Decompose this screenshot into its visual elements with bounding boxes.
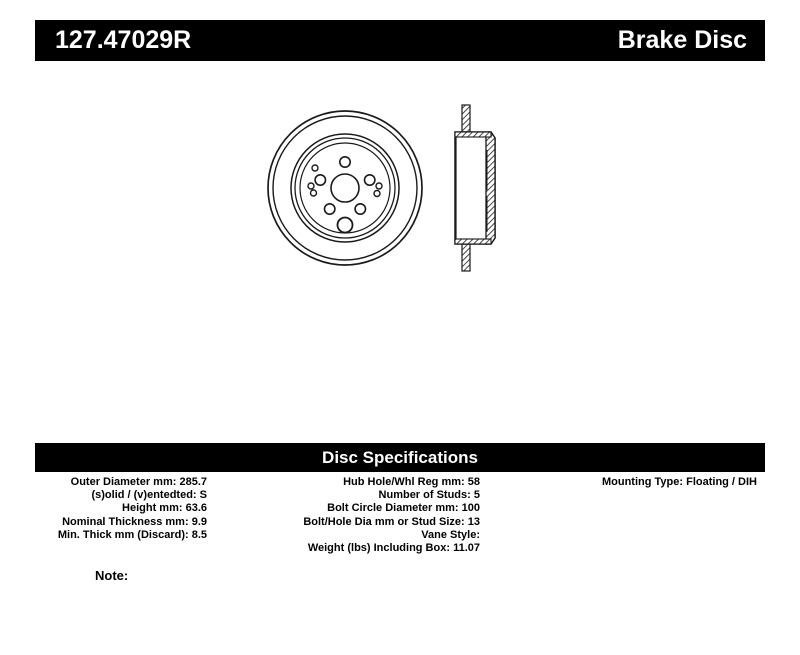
header-bar: 127.47029R Brake Disc [35,20,765,61]
spec-label: Bolt Circle Diameter mm: [327,502,458,514]
spec-value: 8.5 [192,529,207,541]
spec-row: Bolt Circle Diameter mm: 100 [240,502,480,515]
pilot-holes [308,165,382,197]
spec-label: Min. Thick mm (Discard): [58,529,189,541]
spec-value: 285.7 [179,476,207,488]
spec-value: 13 [468,516,480,528]
spec-label: Bolt/Hole Dia mm or Stud Size: [303,516,464,528]
product-title: Brake Disc [618,28,747,53]
spec-value: 63.6 [186,502,207,514]
spec-value: 100 [462,502,480,514]
spec-column-middle: Hub Hole/Whl Reg mm: 58 Number of Studs:… [240,476,480,555]
part-number: 127.47029R [55,28,191,53]
note-row: Note: [95,569,136,582]
spec-column-left: Outer Diameter mm: 285.7 (s)olid / (v)en… [0,476,207,542]
spec-row: Mounting Type: Floating / DIH [520,476,757,489]
spec-row: Vane Style: [240,529,480,542]
spec-column-right: Mounting Type: Floating / DIH [520,476,757,489]
spec-row: Height mm: 63.6 [0,502,207,515]
spec-value: 5 [474,489,480,501]
spec-row: Min. Thick mm (Discard): 8.5 [0,529,207,542]
spec-label: Height mm: [122,502,183,514]
spec-label: Weight (lbs) Including Box: [308,542,450,554]
spec-label: Vane Style: [421,529,480,541]
spec-value: Floating / DIH [686,476,757,488]
product-drawing [255,100,545,295]
spec-row: Weight (lbs) Including Box: 11.07 [240,542,480,555]
spec-label: Hub Hole/Whl Reg mm: [343,476,465,488]
spec-columns: Outer Diameter mm: 285.7 (s)olid / (v)en… [0,476,800,576]
spec-section-title: Disc Specifications [322,449,478,466]
spec-label: Nominal Thickness mm: [62,516,189,528]
spec-value: 58 [468,476,480,488]
service-hole [338,218,353,233]
spec-value: 11.07 [453,542,480,554]
spec-title-bar: Disc Specifications [35,443,765,472]
lug-holes [315,157,375,214]
rotor-face-view [268,111,422,265]
spec-row: Outer Diameter mm: 285.7 [0,476,207,489]
spec-label: Number of Studs: [379,489,471,501]
spec-value: S [200,489,207,501]
spec-label: Outer Diameter mm: [71,476,177,488]
spec-value: 9.9 [192,516,207,528]
spec-label: Mounting Type: [602,476,683,488]
note-label: Note: [95,568,128,583]
spec-row: Hub Hole/Whl Reg mm: 58 [240,476,480,489]
spec-row: Bolt/Hole Dia mm or Stud Size: 13 [240,516,480,529]
spec-row: Number of Studs: 5 [240,489,480,502]
spec-row: Nominal Thickness mm: 9.9 [0,516,207,529]
spec-row: (s)olid / (v)entedted: S [0,489,207,502]
spec-label: (s)olid / (v)entedted: [91,489,196,501]
rotor-edge-section-view [455,105,495,271]
